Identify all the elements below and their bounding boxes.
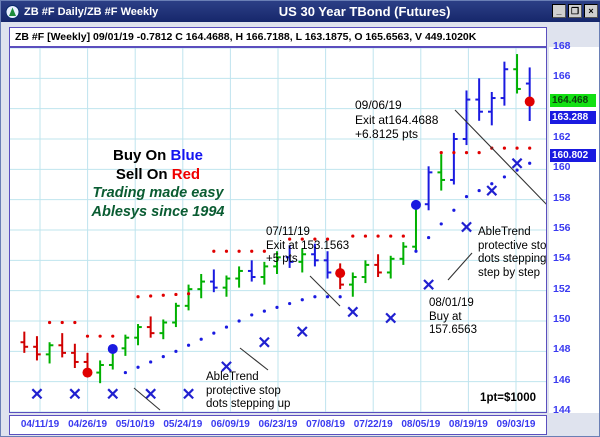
- date-tick-08-05-19: 08/05/19: [401, 419, 440, 430]
- price-label-exit: 164.468: [550, 94, 596, 107]
- price-label-close: 163.288: [550, 111, 596, 124]
- point-value-label: 1pt=$1000: [480, 392, 536, 404]
- annotation-exit-0906-line-2: Exit at164.4688: [355, 113, 438, 128]
- maximize-button[interactable]: ❐: [568, 4, 582, 18]
- promo-line-4: Ablesys since 1994: [68, 203, 248, 222]
- annotation-abletrend-left-line-2: protective stop: [206, 385, 290, 399]
- promo-text-block: Buy On Blue Sell On Red Trading made eas…: [68, 146, 248, 222]
- quote-info-line: ZB #F [Weekly] 09/01/19 -0.7812 C 164.46…: [9, 27, 547, 47]
- annotation-exit-0711-line-3: +5 pts: [266, 253, 349, 267]
- annotation-exit-0711-line-1: 07/11/19: [266, 226, 349, 240]
- price-tick-148: 148: [553, 343, 571, 355]
- promo-line-1-word: Blue: [171, 147, 204, 164]
- promo-line-1-prefix: Buy On: [113, 147, 171, 164]
- ablesys-chart-window: ZB #F Daily/ZB #F Weekly US 30 Year TBon…: [0, 0, 600, 437]
- window-center-title: US 30 Year TBond (Futures): [158, 4, 600, 19]
- date-tick-05-24-19: 05/24/19: [163, 419, 202, 430]
- date-tick-06-23-19: 06/23/19: [259, 419, 298, 430]
- window-title-bar: ZB #F Daily/ZB #F Weekly US 30 Year TBon…: [1, 1, 600, 22]
- close-button[interactable]: ×: [584, 4, 598, 18]
- annotation-buy-0801: 08/01/19Buy at157.6563: [429, 297, 477, 338]
- annotation-abletrend-left-line-1: AbleTrend: [206, 371, 290, 385]
- annotation-abletrend-right-line-1: AbleTrend: [478, 226, 547, 240]
- price-tick-146: 146: [553, 374, 571, 386]
- annotation-abletrend-left-line-4: step by step: [206, 412, 290, 414]
- annotation-buy-0801-line-1: 08/01/19: [429, 297, 477, 311]
- date-tick-08-19-19: 08/19/19: [449, 419, 488, 430]
- price-tick-160: 160: [553, 161, 571, 173]
- price-label-stop: 160.802: [550, 149, 596, 162]
- minimize-button[interactable]: _: [552, 4, 566, 18]
- date-tick-09-03-19: 09/03/19: [497, 419, 536, 430]
- promo-line-2-prefix: Sell On: [116, 166, 172, 183]
- price-tick-152: 152: [553, 283, 571, 295]
- price-tick-154: 154: [553, 252, 571, 264]
- date-tick-04-26-19: 04/26/19: [68, 419, 107, 430]
- annotation-buy-0801-line-3: 157.6563: [429, 324, 477, 338]
- annotation-exit-0906-line-1: 09/06/19: [355, 98, 438, 113]
- annotation-exit-0906: 09/06/19Exit at164.4688+6.8125 pts: [355, 98, 438, 142]
- date-tick-06-09-19: 06/09/19: [211, 419, 250, 430]
- price-tick-162: 162: [553, 131, 571, 143]
- ablesys-logo-icon: [5, 5, 20, 19]
- annotation-abletrend-right: AbleTrendprotective stopdots stepping up…: [478, 226, 547, 280]
- price-tick-150: 150: [553, 313, 571, 325]
- annotation-exit-0906-line-3: +6.8125 pts: [355, 127, 438, 142]
- date-axis[interactable]: 04/11/1904/26/1905/10/1905/24/1906/09/19…: [9, 415, 547, 435]
- price-tick-168: 168: [553, 40, 571, 52]
- chart-plot-area[interactable]: Buy On Blue Sell On Red Trading made eas…: [9, 47, 547, 413]
- annotation-abletrend-right-line-3: dots stepping up: [478, 253, 547, 267]
- annotation-abletrend-left: AbleTrendprotective stopdots stepping up…: [206, 371, 290, 413]
- date-tick-07-22-19: 07/22/19: [354, 419, 393, 430]
- price-axis[interactable]: 168166162160158156154152150148146144164.…: [549, 47, 599, 413]
- price-tick-158: 158: [553, 192, 571, 204]
- annotation-abletrend-left-line-3: dots stepping up: [206, 398, 290, 412]
- annotation-exit-0711: 07/11/19Exit at 153.1563+5 pts: [266, 226, 349, 267]
- price-tick-166: 166: [553, 70, 571, 82]
- annotation-abletrend-right-line-2: protective stop: [478, 240, 547, 254]
- promo-line-3: Trading made easy: [68, 184, 248, 203]
- annotation-abletrend-right-line-4: step by step: [478, 267, 547, 281]
- price-tick-144: 144: [553, 404, 571, 416]
- promo-line-2-word: Red: [172, 166, 200, 183]
- window-left-title: ZB #F Daily/ZB #F Weekly: [24, 6, 158, 18]
- promo-line-1: Buy On Blue: [68, 146, 248, 165]
- date-tick-05-10-19: 05/10/19: [116, 419, 155, 430]
- price-tick-156: 156: [553, 222, 571, 234]
- annotation-exit-0711-line-2: Exit at 153.1563: [266, 240, 349, 254]
- window-controls: _ ❐ ×: [552, 4, 598, 18]
- date-tick-07-08-19: 07/08/19: [306, 419, 345, 430]
- date-tick-04-11-19: 04/11/19: [21, 419, 59, 430]
- annotation-buy-0801-line-2: Buy at: [429, 311, 477, 325]
- promo-line-2: Sell On Red: [68, 165, 248, 184]
